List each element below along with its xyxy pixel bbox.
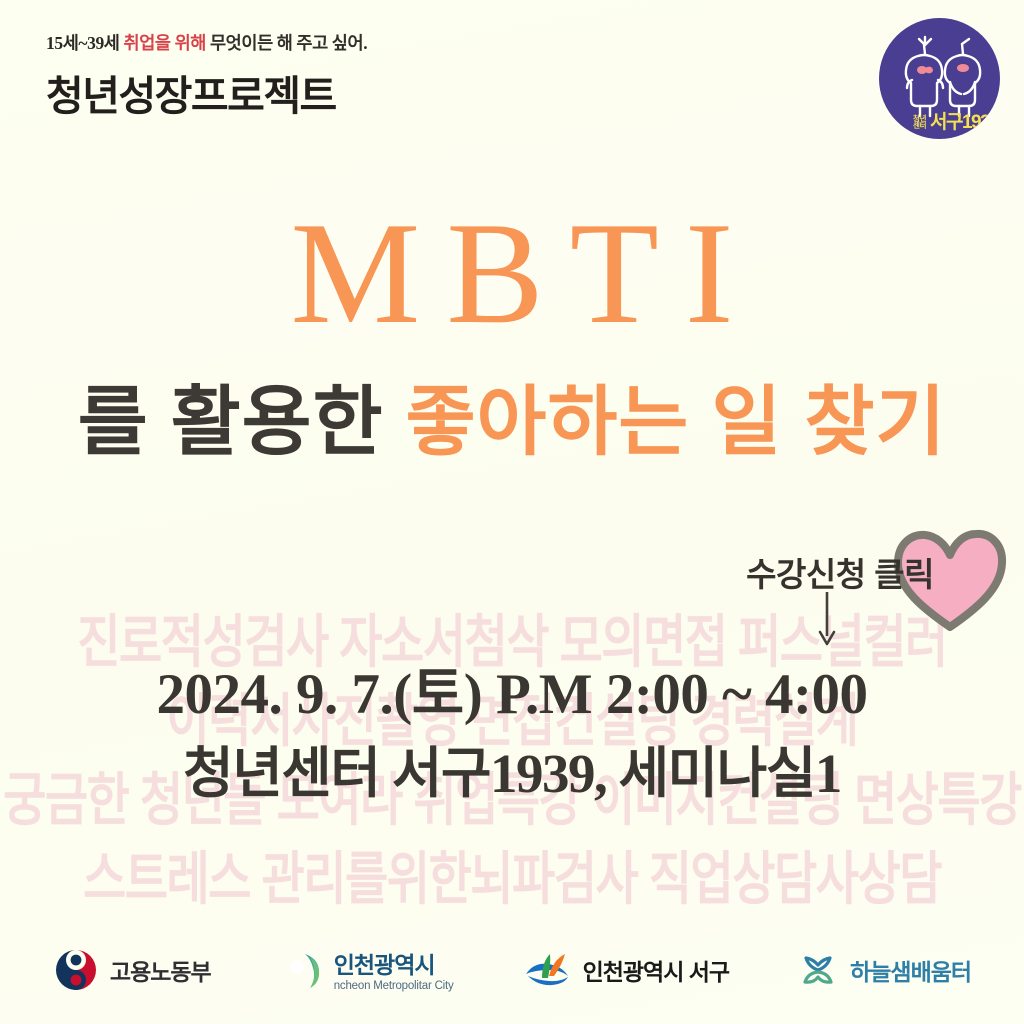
incheon-swirl-icon bbox=[279, 948, 323, 997]
header-kicker-tail: 무엇이든 해 주고 싶어. bbox=[210, 33, 367, 53]
header-branding: 15세~39세 취업을 위해 무엇이든 해 주고 싶어. 청년성장프로젝트 bbox=[46, 30, 466, 122]
footer-logo-haneulsaem: 하늘샘배움터 bbox=[763, 948, 1005, 997]
seogu-swoosh-icon bbox=[522, 948, 572, 997]
footer-logo-incheon: 인천광역시 ncheon Metropolitar City bbox=[245, 948, 488, 997]
header-kicker-age: 15세~39세 bbox=[46, 33, 120, 53]
background-keyword-line: 스트레스 관리를위한뇌파검사 직업상담사상담 bbox=[0, 830, 1024, 926]
svg-text:센터: 센터 bbox=[913, 120, 927, 130]
registration-cta-label[interactable]: 수강신청 클릭 bbox=[746, 548, 934, 596]
footer-logo-label: 고용노동부 bbox=[110, 960, 211, 985]
event-details: 2024. 9. 7.(토) P.M 2:00 ~ 4:00 청년센터 서구19… bbox=[0, 655, 1024, 813]
footer-logo-label: 인천광역시 bbox=[334, 953, 454, 978]
footer-logo-text: 인천광역시 서구 bbox=[583, 960, 730, 985]
taegeuk-icon bbox=[53, 947, 99, 998]
header-kicker-highlight: 취업을 위해 bbox=[120, 33, 210, 53]
footer-logo-text: 인천광역시 ncheon Metropolitar City bbox=[334, 953, 454, 992]
event-venue: 청년센터 서구1939, 세미나실1 bbox=[0, 734, 1024, 813]
footer-logo-label: 하늘샘배움터 bbox=[850, 960, 971, 985]
footer-logo-text: 하늘샘배움터 bbox=[850, 960, 971, 985]
page-title-mbti: MBTI bbox=[0, 197, 1024, 349]
poster-canvas: 진로적성검사 자소서첨삭 모의면접 퍼스널컬러 이력서사진촬영 면접컨설팅 경력… bbox=[0, 0, 1024, 1024]
header-brand-title: 청년성장프로젝트 bbox=[46, 62, 466, 122]
footer-logo-seogu: 인천광역시 서구 bbox=[488, 948, 764, 997]
event-datetime: 2024. 9. 7.(토) P.M 2:00 ~ 4:00 bbox=[0, 655, 1024, 734]
seogu-1939-badge: 청년 센터 서구1939 bbox=[879, 18, 1000, 139]
haneulsaem-tulip-icon bbox=[797, 948, 839, 997]
page-subtitle: 를 활용한 좋아하는 일 찾기 bbox=[0, 378, 1024, 468]
footer-logo-molab: 고용노동부 bbox=[19, 947, 245, 998]
subtitle-part-dark: 를 활용한 bbox=[78, 380, 384, 465]
subtitle-part-accent: 좋아하는 일 찾기 bbox=[384, 380, 947, 465]
footer-logo-label: 인천광역시 서구 bbox=[583, 960, 730, 985]
svg-text:서구1939: 서구1939 bbox=[930, 111, 999, 133]
footer-logo-strip: 고용노동부 인천광역시 ncheon Metropolitar City bbox=[0, 947, 1024, 998]
header-kicker: 15세~39세 취업을 위해 무엇이든 해 주고 싶어. bbox=[46, 30, 466, 55]
footer-logo-text: 고용노동부 bbox=[110, 960, 211, 985]
footer-logo-sublabel: ncheon Metropolitar City bbox=[334, 980, 454, 992]
arrow-down-icon bbox=[816, 592, 818, 646]
